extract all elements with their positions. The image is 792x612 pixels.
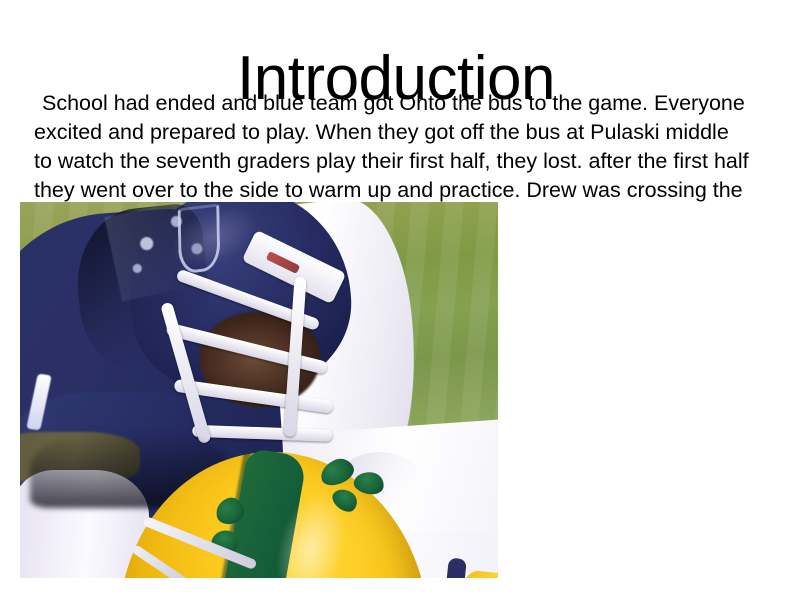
football-photo <box>20 202 498 578</box>
photo-navy-helmet-logo <box>178 203 221 274</box>
facemask-bar <box>192 425 332 442</box>
slide-canvas: Introduction School had ended and blue t… <box>0 0 792 612</box>
